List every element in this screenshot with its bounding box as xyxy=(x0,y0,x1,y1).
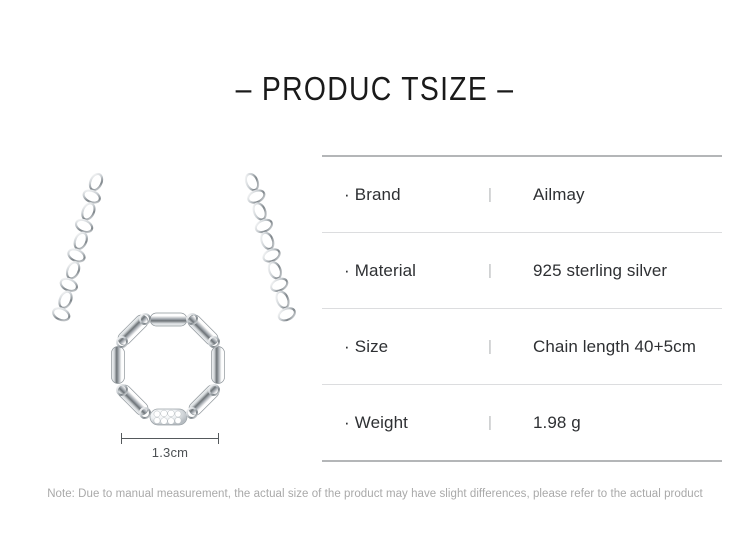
spec-label-weight: ·Weight xyxy=(322,413,488,433)
chain-left xyxy=(33,172,127,323)
spec-divider: | xyxy=(488,186,533,203)
spec-divider: | xyxy=(488,338,533,355)
bullet-icon: · xyxy=(344,261,350,281)
pave-stone-bar xyxy=(150,409,187,425)
measure-line xyxy=(121,438,219,439)
spec-value-size: Chain length 40+5cm xyxy=(533,337,722,357)
table-row: ·Weight | 1.98 g xyxy=(322,385,722,460)
page-title: – PRODUC TSIZE – xyxy=(53,70,698,108)
spec-label-text: Material xyxy=(355,261,416,280)
size-measure-bar xyxy=(121,433,219,444)
spec-value-weight: 1.98 g xyxy=(533,413,722,433)
spec-label-size: ·Size xyxy=(322,337,488,357)
measure-cap-left xyxy=(121,433,122,444)
spec-value-brand: Ailmay xyxy=(533,185,722,205)
spec-divider: | xyxy=(488,262,533,279)
bullet-icon: · xyxy=(344,337,350,357)
spec-value-material: 925 sterling silver xyxy=(533,261,722,281)
chain-right xyxy=(221,172,315,323)
octagon-pendant xyxy=(112,312,225,425)
bullet-icon: · xyxy=(344,185,350,205)
product-image xyxy=(20,150,320,440)
bullet-icon: · xyxy=(344,413,350,433)
table-row: ·Brand | Ailmay xyxy=(322,157,722,233)
measure-cap-right xyxy=(218,433,219,444)
spec-label-text: Weight xyxy=(355,413,408,432)
spec-label-text: Size xyxy=(355,337,388,356)
disclaimer-note: Note: Due to manual measurement, the act… xyxy=(0,488,750,500)
spec-label-material: ·Material xyxy=(322,261,488,281)
table-row: ·Size | Chain length 40+5cm xyxy=(322,309,722,385)
spec-label-brand: ·Brand xyxy=(322,185,488,205)
spec-table: ·Brand | Ailmay ·Material | 925 sterling… xyxy=(322,155,722,462)
measure-label: 1.3cm xyxy=(121,445,219,460)
necklace-illustration xyxy=(20,150,320,440)
spec-label-text: Brand xyxy=(355,185,401,204)
spec-divider: | xyxy=(488,414,533,431)
table-row: ·Material | 925 sterling silver xyxy=(322,233,722,309)
